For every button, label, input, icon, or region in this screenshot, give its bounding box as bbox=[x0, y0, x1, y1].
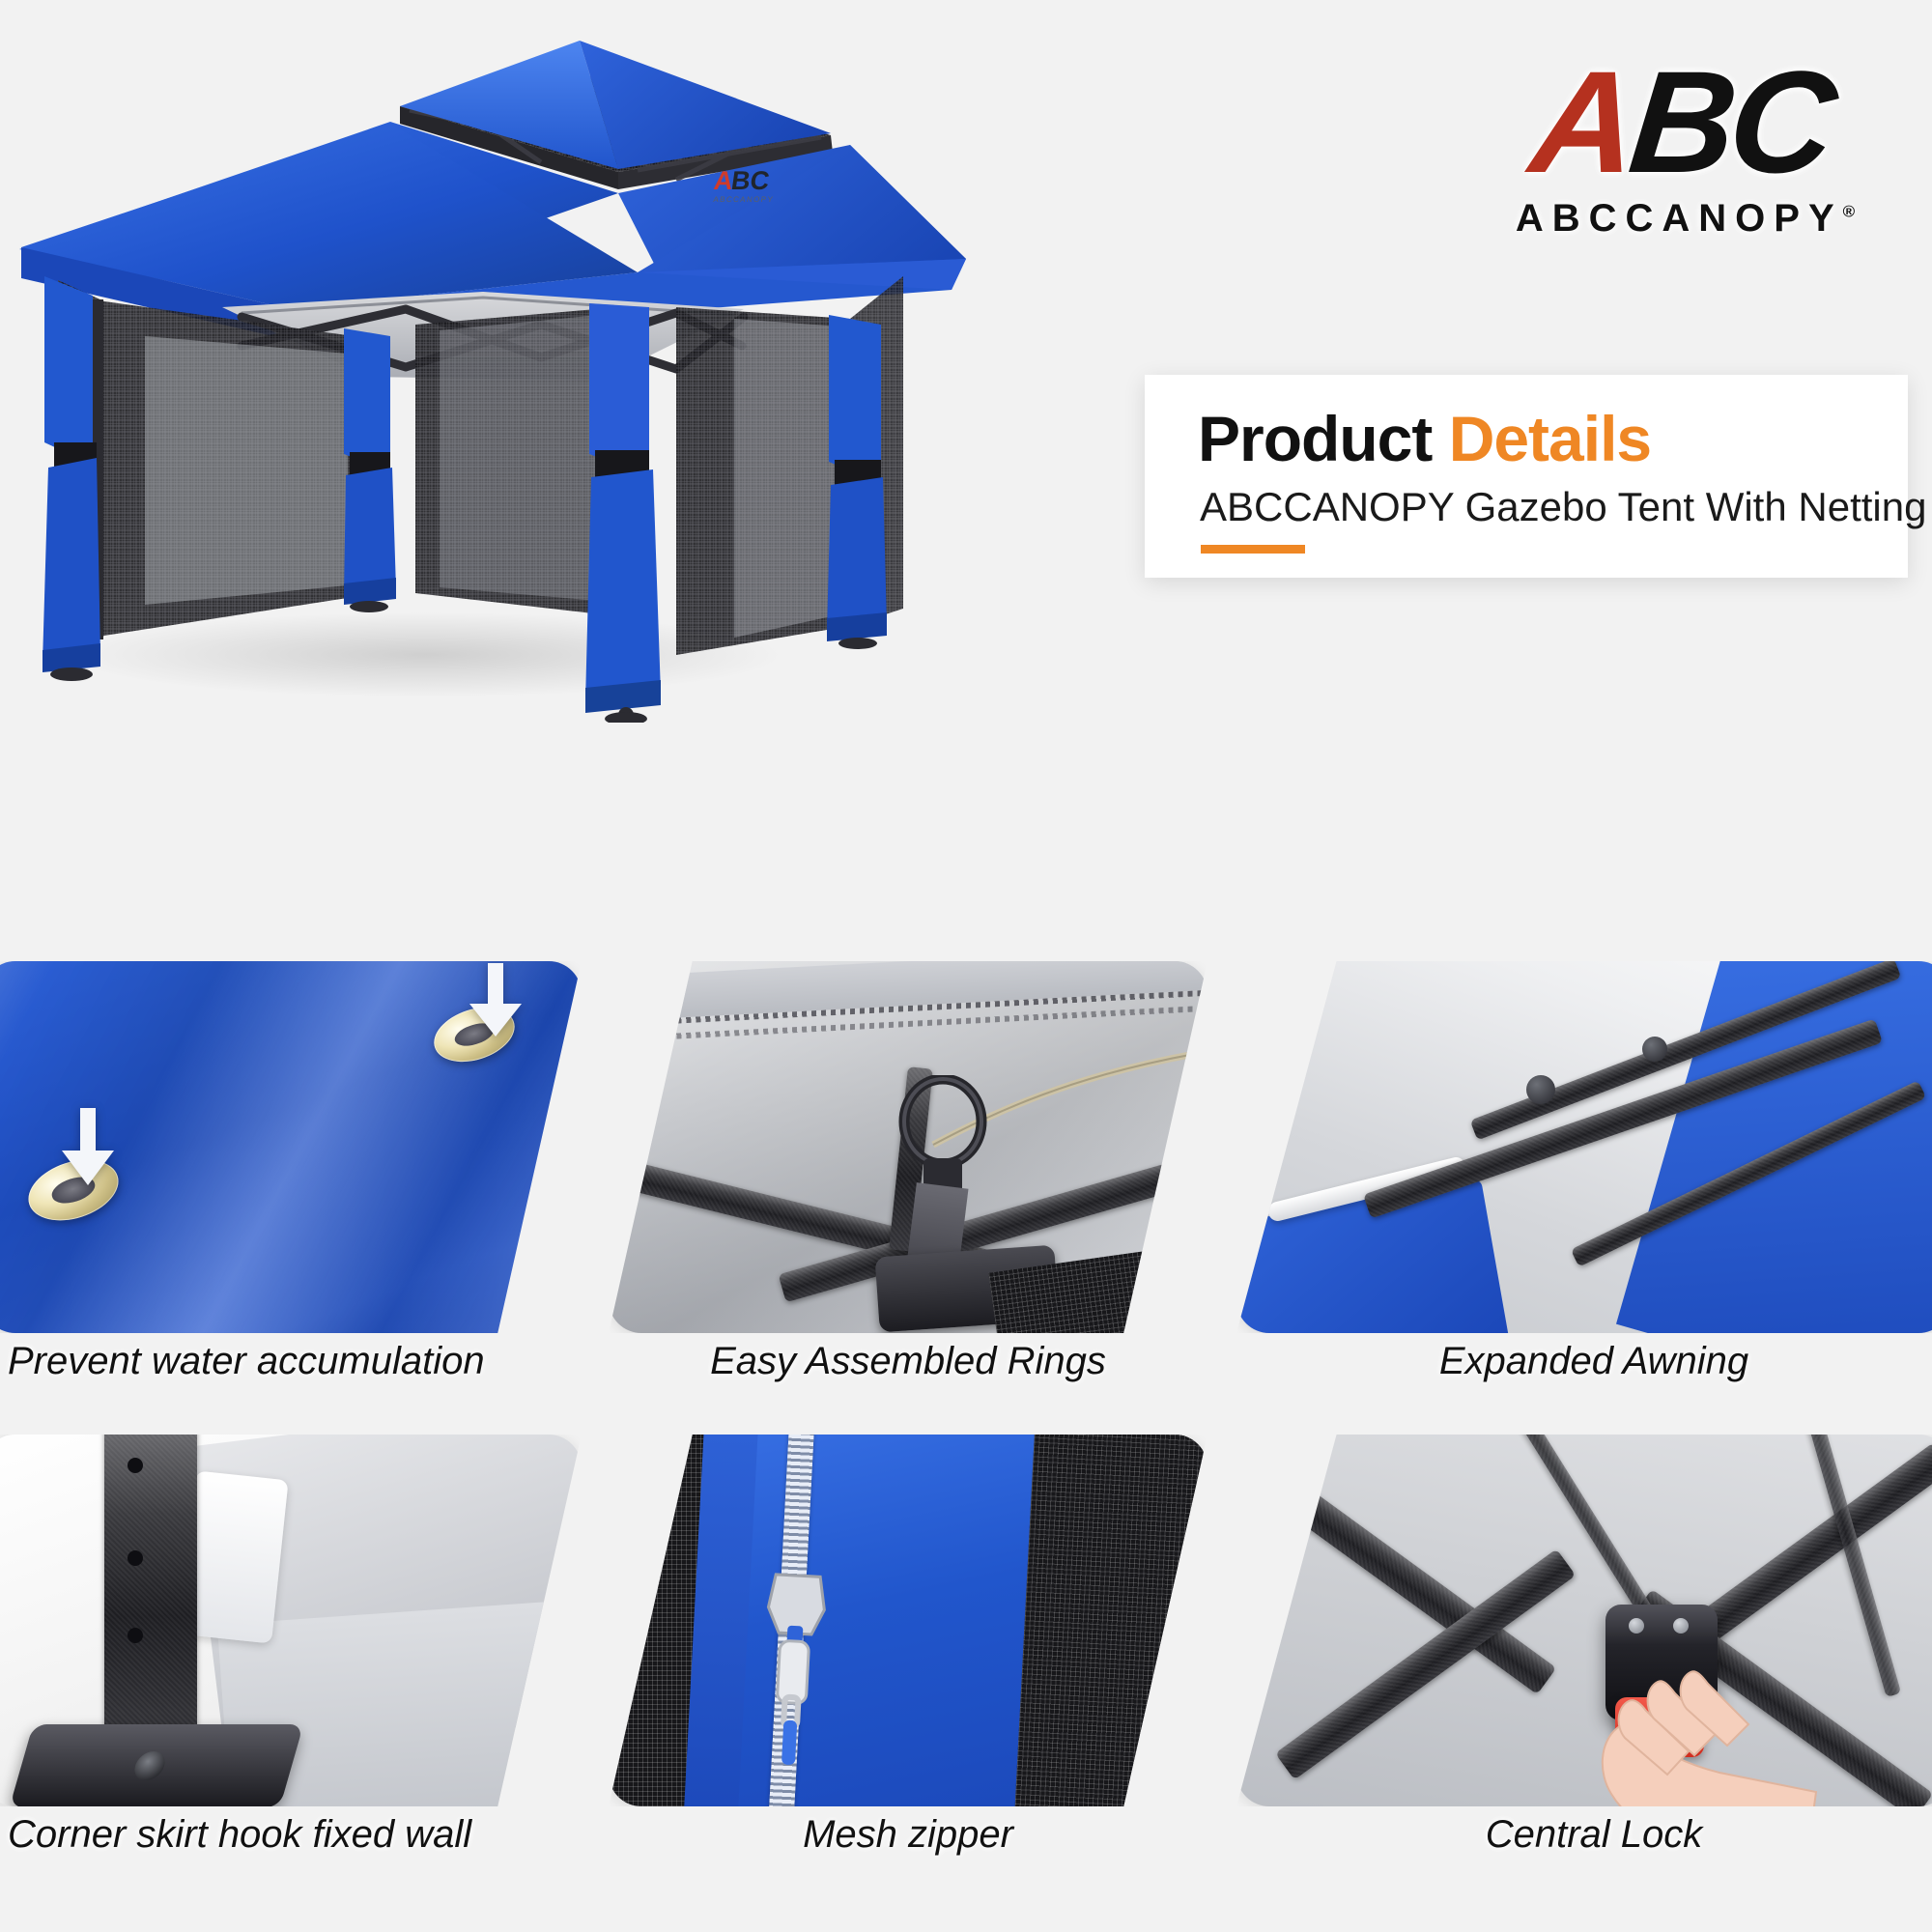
connector bbox=[1526, 1075, 1555, 1104]
title-primary: Product bbox=[1198, 403, 1432, 474]
feature-card-central-lock: Central Lock bbox=[1236, 1435, 1932, 1889]
feature-card-mesh-zipper: Mesh zipper bbox=[609, 1435, 1207, 1889]
feature-grid: Prevent water accumulation bbox=[0, 952, 1932, 1932]
base-plate bbox=[10, 1724, 304, 1806]
connector bbox=[1642, 1037, 1667, 1062]
hero-product-image: A BC ABCCANOPY bbox=[0, 17, 976, 723]
product-detail-page: A BC ABCCANOPY bbox=[0, 0, 1932, 1932]
feature-caption-easy-assembled-rings: Easy Assembled Rings bbox=[609, 1340, 1207, 1383]
netting-walls bbox=[58, 276, 903, 655]
accent-rule bbox=[1201, 545, 1305, 554]
feature-caption-central-lock: Central Lock bbox=[1236, 1813, 1932, 1857]
feature-caption-mesh-zipper: Mesh zipper bbox=[609, 1813, 1207, 1857]
feature-image-expanded-awning bbox=[1236, 961, 1932, 1333]
brand-logo-letters-bc: BC bbox=[1623, 41, 1837, 203]
feature-card-easy-assembled-rings: Easy Assembled Rings bbox=[609, 961, 1207, 1415]
feature-image-corner-skirt-hook-fixed-wall bbox=[0, 1435, 582, 1806]
product-details-card: Product Details ABCCANOPY Gazebo Tent Wi… bbox=[1145, 375, 1908, 578]
zipper-slider-icon bbox=[749, 1568, 838, 1775]
hero-section: A BC ABCCANOPY bbox=[0, 0, 1932, 952]
leg-pole bbox=[104, 1435, 197, 1744]
pole-hole bbox=[128, 1628, 143, 1643]
arrow-down-icon bbox=[58, 1108, 118, 1189]
feature-card-prevent-water-accumulation: Prevent water accumulation bbox=[0, 961, 582, 1415]
registered-icon: ® bbox=[1843, 202, 1856, 220]
page-title: Product Details bbox=[1198, 402, 1651, 475]
feature-card-expanded-awning: Expanded Awning bbox=[1236, 961, 1932, 1415]
feature-card-corner-skirt-hook-fixed-wall: Corner skirt hook fixed wall bbox=[0, 1435, 582, 1889]
svg-text:ABCCANOPY: ABCCANOPY bbox=[713, 195, 775, 204]
feature-image-easy-assembled-rings bbox=[609, 961, 1207, 1333]
title-accent: Details bbox=[1449, 403, 1651, 474]
brand-logo-letter-a: A bbox=[1524, 41, 1640, 203]
feature-image-prevent-water-accumulation bbox=[0, 961, 582, 1333]
pole-hole bbox=[128, 1550, 143, 1566]
hand-icon bbox=[1575, 1666, 1845, 1806]
brand-logo: ABC ABCCANOPY® bbox=[1468, 53, 1893, 241]
feature-caption-expanded-awning: Expanded Awning bbox=[1236, 1340, 1932, 1383]
feature-image-central-lock bbox=[1236, 1435, 1932, 1806]
arrow-down-icon bbox=[466, 963, 526, 1040]
brand-logo-wordmark: ABCCANOPY® bbox=[1468, 197, 1893, 241]
svg-text:BC: BC bbox=[729, 165, 771, 195]
brand-name-text: ABCCANOPY bbox=[1516, 197, 1843, 240]
page-subtitle: ABCCANOPY Gazebo Tent With Netting bbox=[1200, 484, 1926, 530]
feature-caption-corner-skirt-hook-fixed-wall: Corner skirt hook fixed wall bbox=[0, 1813, 582, 1857]
feature-image-mesh-zipper bbox=[609, 1435, 1207, 1806]
brand-logo-mark: ABC bbox=[1462, 53, 1901, 191]
pole-hole bbox=[128, 1458, 143, 1473]
feature-caption-prevent-water-accumulation: Prevent water accumulation bbox=[0, 1340, 582, 1383]
